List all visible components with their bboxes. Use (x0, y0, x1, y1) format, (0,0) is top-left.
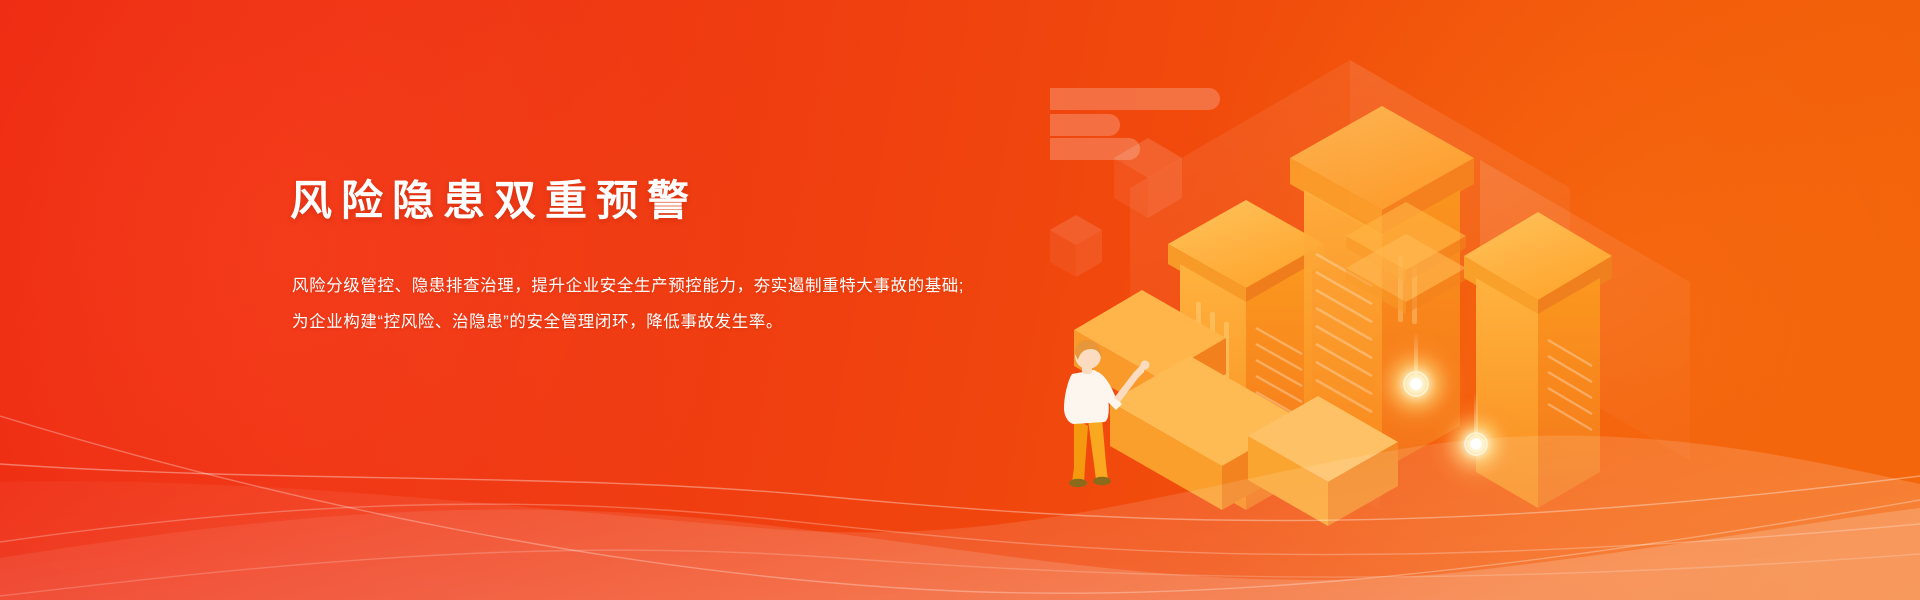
banner-copy-block: 风险隐患双重预警 风险分级管控、隐患排查治理，提升企业安全生产预控能力，夯实遏制… (290, 175, 1010, 340)
ghost-geometry-layer (1130, 60, 1690, 510)
wave-fill-front (0, 508, 1920, 600)
background-glow-right (1120, 0, 1920, 600)
wave-fill-back (0, 436, 1920, 600)
wave-line-2 (0, 464, 1920, 521)
banner-headline: 风险隐患双重预警 (290, 175, 1010, 228)
glow-spot-lower (1428, 392, 1524, 492)
platform-base (1074, 290, 1398, 526)
person-pointing (1064, 340, 1150, 487)
glow-spot-upper (1364, 332, 1468, 436)
cloud-shape-upper (1050, 88, 1220, 160)
stacked-slabs (1346, 202, 1466, 314)
floating-cube-hexagon (1114, 138, 1182, 218)
banner-subcopy-line-2: 为企业构建“控风险、治隐患”的安全管理闭环，降低事故发生率。 (292, 304, 1010, 340)
banner-subcopy: 风险分级管控、隐患排查治理，提升企业安全生产预控能力，夯实遏制重特大事故的基础;… (292, 268, 1010, 340)
isometric-city-illustration (1050, 40, 1690, 560)
wave-line-1 (0, 416, 1920, 593)
wave-line-3 (0, 504, 1920, 554)
tower-right (1464, 212, 1612, 508)
hero-banner: 风险隐患双重预警 风险分级管控、隐患排查治理，提升企业安全生产预控能力，夯实遏制… (0, 0, 1920, 600)
tower-center (1290, 106, 1474, 470)
banner-subcopy-line-1: 风险分级管控、隐患排查治理，提升企业安全生产预控能力，夯实遏制重特大事故的基础; (292, 268, 1010, 304)
tower-left (1168, 200, 1324, 510)
floating-cube-small (1050, 215, 1102, 277)
wave-line-4 (0, 550, 1920, 596)
